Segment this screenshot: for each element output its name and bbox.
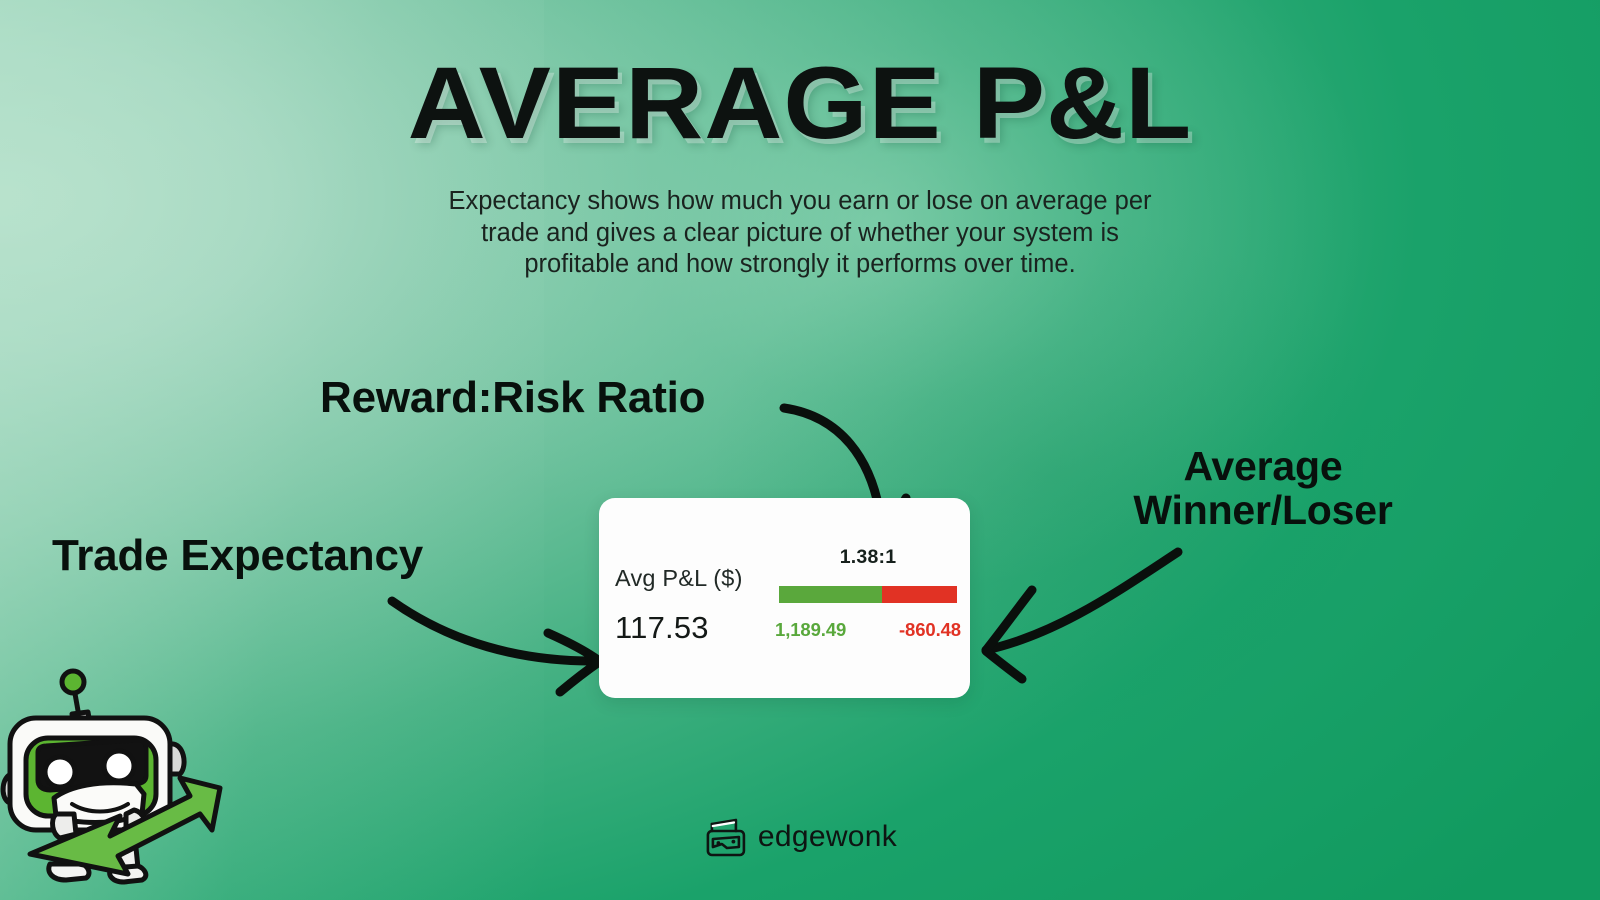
winner-loser-values: 1,189.49 -860.48 — [775, 619, 961, 641]
subtitle-line-3: profitable and how strongly it performs … — [360, 249, 1240, 281]
annotation-reward-risk-ratio: Reward:Risk Ratio — [320, 374, 705, 422]
average-winner-value: 1,189.49 — [775, 619, 846, 641]
winner-bar-segment — [779, 586, 882, 603]
annotation-trade-expectancy: Trade Expectancy — [52, 532, 423, 580]
page-title: AVERAGE P&L — [0, 52, 1600, 154]
edgewonk-robot-head-icon — [703, 816, 749, 858]
annotation-awl-line-1: Average — [1092, 444, 1434, 488]
subtitle-line-2: trade and gives a clear picture of wheth… — [360, 218, 1240, 250]
edgewonk-logo[interactable]: edgewonk — [703, 816, 897, 858]
infographic-canvas: AVERAGE P&L Expectancy shows how much yo… — [0, 0, 1600, 900]
avg-pnl-label: Avg P&L ($) — [615, 565, 743, 592]
page-subtitle: Expectancy shows how much you earn or lo… — [360, 186, 1240, 281]
loser-bar-segment — [882, 586, 957, 603]
reward-risk-ratio-value: 1.38:1 — [779, 546, 957, 569]
average-loser-value: -860.48 — [899, 619, 961, 641]
subtitle-line-1: Expectancy shows how much you earn or lo… — [360, 186, 1240, 218]
annotation-average-winner-loser: Average Winner/Loser — [1092, 444, 1434, 533]
winner-loser-bar — [779, 586, 957, 603]
edgewonk-wordmark: edgewonk — [758, 822, 897, 852]
avg-pnl-value: 117.53 — [615, 610, 709, 646]
annotation-awl-line-2: Winner/Loser — [1092, 488, 1434, 532]
edgewonk-robot-mascot — [0, 668, 226, 900]
